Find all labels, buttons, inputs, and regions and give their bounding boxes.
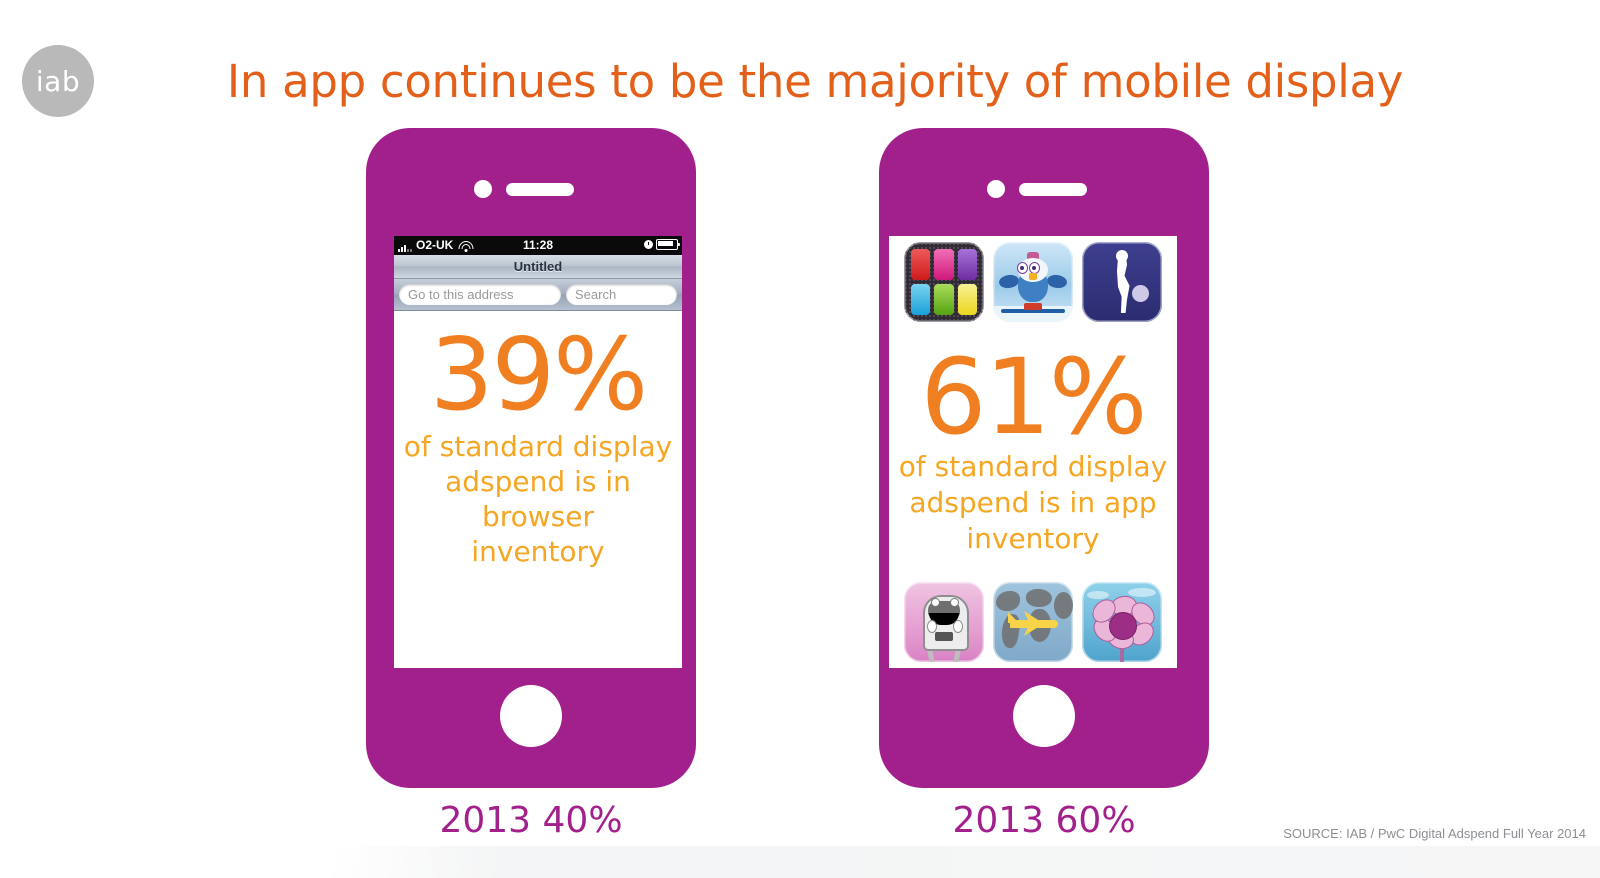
home-button[interactable]: [500, 685, 562, 747]
caption-line: of standard display: [899, 449, 1167, 485]
source-note: SOURCE: IAB / PwC Digital Adspend Full Y…: [1283, 826, 1586, 841]
apps-screen: 61% of standard display adspend is in ap…: [889, 236, 1177, 668]
stat-caption-browser: of standard display adspend is in browse…: [400, 429, 676, 569]
airplane-icon: [1004, 609, 1062, 637]
alarm-clock-icon: [644, 240, 653, 249]
app-icon-row-bottom: [893, 582, 1173, 662]
phone-apps: 61% of standard display adspend is in ap…: [879, 128, 1209, 788]
browser-page-title: Untitled: [514, 259, 562, 274]
caption-line: browser: [404, 499, 672, 534]
cloud: [1128, 588, 1156, 597]
phone-browser: O2-UK 11:28 Untitled Go to this address …: [366, 128, 696, 788]
app-icon-row-top: [893, 242, 1173, 322]
caption-line: inventory: [899, 521, 1167, 557]
flower-app-icon[interactable]: [1082, 582, 1162, 662]
prior-year-label-browser: 2013 40%: [366, 800, 696, 841]
train-lamp-left: [927, 620, 937, 633]
caption-line: inventory: [404, 534, 672, 569]
browser-content: 39% of standard display adspend is in br…: [394, 311, 682, 668]
caption-line: adspend is in app: [899, 485, 1167, 521]
bird-wing-left: [998, 274, 1020, 290]
caption-line: of standard display: [404, 429, 672, 464]
train-grill: [935, 632, 953, 641]
basketball-player-head: [1116, 250, 1128, 262]
stat-caption-app: of standard display adspend is in app in…: [895, 449, 1171, 557]
bird-app-icon[interactable]: [993, 242, 1073, 322]
browser-title-bar: Untitled: [394, 255, 682, 279]
front-camera-icon: [474, 180, 492, 198]
page-title: In app continues to be the majority of m…: [150, 55, 1480, 108]
app-grid-icon[interactable]: [904, 242, 984, 322]
iab-logo: iab: [22, 45, 94, 117]
stat-value-browser: 39%: [430, 327, 646, 423]
train-headlight-right: [950, 598, 959, 607]
basketball-app-icon[interactable]: [1082, 242, 1162, 322]
home-button[interactable]: [1013, 685, 1075, 747]
status-bar-clock: 11:28: [394, 238, 682, 253]
stat-value-app: 61%: [920, 347, 1145, 447]
grid-icon-tiles: [911, 249, 977, 315]
slide-canvas: iab In app continues to be the majority …: [0, 0, 1600, 878]
app-grid-content: 61% of standard display adspend is in ap…: [889, 236, 1177, 668]
iab-logo-text: iab: [22, 45, 94, 117]
map-landmass: [1026, 589, 1052, 607]
status-bar-right: [644, 239, 678, 250]
app-stat-block: 61% of standard display adspend is in ap…: [893, 322, 1173, 582]
battery-icon: [656, 239, 678, 250]
prior-year-label-app: 2013 60%: [879, 800, 1209, 841]
search-input[interactable]: Search: [566, 284, 677, 305]
address-input[interactable]: Go to this address: [399, 284, 561, 305]
basketball-ball: [1132, 285, 1149, 302]
caption-line: adspend is in: [404, 464, 672, 499]
map-landmass: [996, 591, 1020, 611]
travel-map-app-icon[interactable]: [993, 582, 1073, 662]
bird-eye-left: [1017, 262, 1028, 274]
bird-wing-right: [1046, 274, 1068, 290]
footer-sheen: [330, 846, 1600, 878]
earpiece-speaker: [506, 183, 574, 196]
train-lamp-right: [953, 620, 963, 633]
train-headlight-left: [931, 598, 940, 607]
ios-status-bar: O2-UK 11:28: [394, 236, 682, 255]
bird-legs: [1024, 303, 1042, 310]
front-camera-icon: [987, 180, 1005, 198]
earpiece-speaker: [1019, 183, 1087, 196]
browser-toolbar: Go to this address Search: [394, 279, 682, 311]
browser-screen: O2-UK 11:28 Untitled Go to this address …: [394, 236, 682, 668]
bird-beak: [1029, 273, 1037, 280]
cloud: [1087, 591, 1109, 599]
train-app-icon[interactable]: [904, 582, 984, 662]
flower-center: [1109, 612, 1137, 640]
